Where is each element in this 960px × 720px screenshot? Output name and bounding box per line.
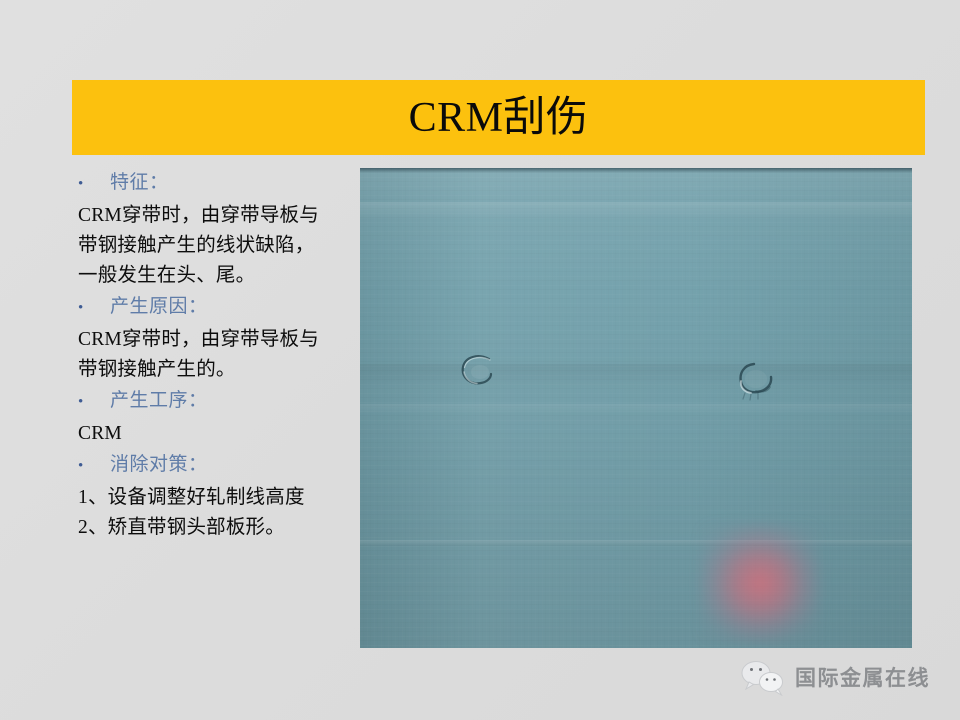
wechat-icon xyxy=(740,658,786,696)
content-column: 特征： CRM穿带时，由穿带导板与 带钢接触产生的线状缺陷， 一般发生在头、尾。… xyxy=(78,168,350,544)
page-title: CRM刮伤 xyxy=(409,97,589,139)
bullet-dot-icon xyxy=(78,388,94,417)
section-label-cause: 产生原因： xyxy=(94,292,208,321)
section-label-characteristics: 特征： xyxy=(94,168,169,197)
bullet-heading-row: 产生原因： xyxy=(78,292,350,323)
slide-canvas: CRM刮伤 特征： CRM穿带时，由穿带导板与 带钢接触产生的线状缺陷， 一般发… xyxy=(0,0,960,720)
bullet-heading-row: 产生工序： xyxy=(78,386,350,417)
section-body-countermeasures: 1、设备调整好轧制线高度 2、矫直带钢头部板形。 xyxy=(78,483,350,543)
watermark-text: 国际金属在线 xyxy=(795,662,930,692)
bullet-heading-row: 消除对策： xyxy=(78,450,350,481)
bullet-dot-icon xyxy=(78,452,94,481)
title-banner: CRM刮伤 xyxy=(72,80,925,155)
body-line: CRM穿带时，由穿带导板与 xyxy=(78,201,350,231)
body-line: 1、设备调整好轧制线高度 xyxy=(78,483,350,513)
section-label-process: 产生工序： xyxy=(94,386,208,415)
section-body-process: CRM xyxy=(78,419,350,449)
bullet-dot-icon xyxy=(78,294,94,323)
section-process: 产生工序： CRM xyxy=(78,386,350,449)
section-characteristics: 特征： CRM穿带时，由穿带导板与 带钢接触产生的线状缺陷， 一般发生在头、尾。 xyxy=(78,168,350,291)
body-line: CRM穿带时，由穿带导板与 xyxy=(78,325,350,355)
section-cause: 产生原因： CRM穿带时，由穿带导板与 带钢接触产生的。 xyxy=(78,292,350,385)
body-line: 2、矫直带钢头部板形。 xyxy=(78,513,350,543)
body-line: 一般发生在头、尾。 xyxy=(78,261,350,291)
defect-photo xyxy=(360,168,912,648)
section-label-countermeasures: 消除对策： xyxy=(94,450,208,479)
watermark: 国际金属在线 xyxy=(740,658,930,696)
bullet-dot-icon xyxy=(78,170,94,199)
bullet-heading-row: 特征： xyxy=(78,168,350,199)
section-body-characteristics: CRM穿带时，由穿带导板与 带钢接触产生的线状缺陷， 一般发生在头、尾。 xyxy=(78,201,350,291)
surface-grain-texture xyxy=(360,168,912,648)
body-line: CRM xyxy=(78,419,350,449)
section-body-cause: CRM穿带时，由穿带导板与 带钢接触产生的。 xyxy=(78,325,350,385)
section-countermeasures: 消除对策： 1、设备调整好轧制线高度 2、矫直带钢头部板形。 xyxy=(78,450,350,543)
body-line: 带钢接触产生的。 xyxy=(78,355,350,385)
body-line: 带钢接触产生的线状缺陷， xyxy=(78,231,350,261)
